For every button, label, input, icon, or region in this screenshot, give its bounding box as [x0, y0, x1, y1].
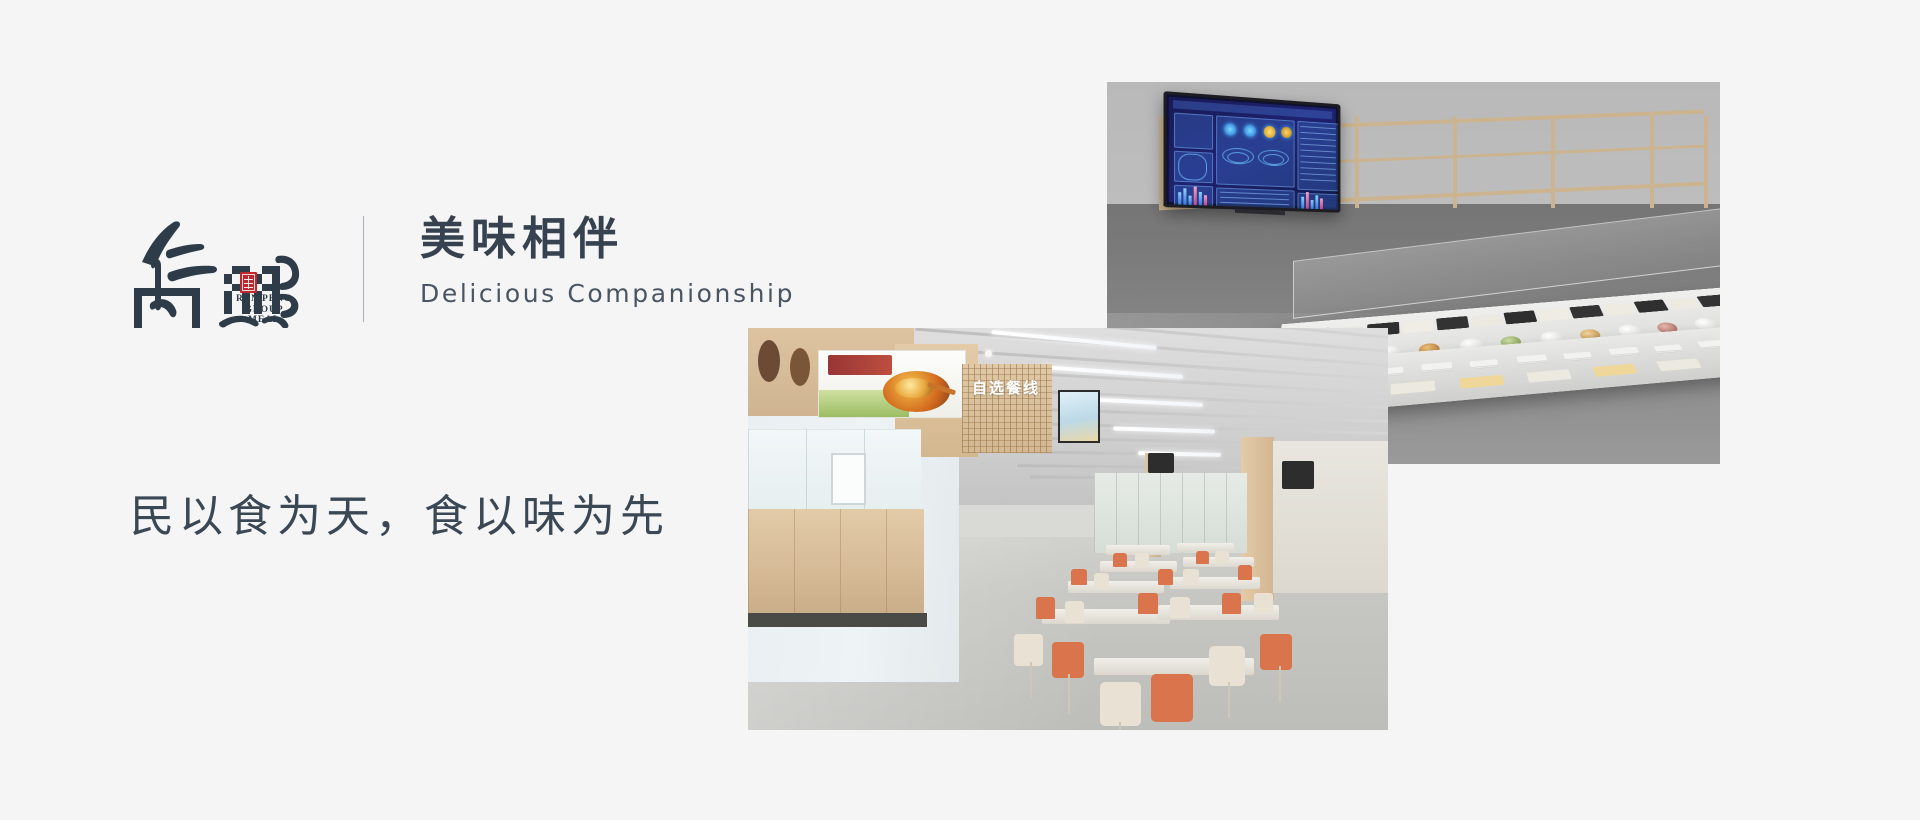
- chair: [1254, 593, 1273, 614]
- chair: [1094, 573, 1109, 589]
- chair: [1196, 551, 1209, 564]
- framed-notice: [831, 453, 866, 505]
- logo-en-line-3: MEAL: [236, 315, 292, 326]
- red-seal-icon: [240, 272, 257, 293]
- chair: [1151, 674, 1193, 722]
- chair: [1183, 569, 1198, 585]
- wall-screen: [1148, 453, 1174, 473]
- chair: [1100, 682, 1141, 726]
- cafeteria-interior-image: 自选餐线: [748, 328, 1388, 730]
- chair: [1222, 593, 1241, 614]
- logo-en-line-2: GROUP: [236, 305, 292, 316]
- chair: [1238, 565, 1253, 580]
- logo-calligraphy-icon: REN PENG GROUP MEAL: [128, 210, 303, 328]
- digital-menu-screen: [1058, 390, 1100, 442]
- logo-english-text: REN PENG GROUP MEAL: [236, 294, 292, 326]
- company-logo: REN PENG GROUP MEAL: [128, 210, 303, 350]
- page-title: 美味相伴: [420, 212, 795, 265]
- chair: [1158, 569, 1173, 585]
- ceiling-light: [991, 330, 1157, 350]
- brand-titles: 美味相伴 Delicious Companionship: [420, 210, 795, 308]
- menu-sign-board: [818, 350, 965, 418]
- chair: [1052, 642, 1084, 678]
- chair: [1071, 569, 1086, 585]
- chair: [1215, 551, 1228, 564]
- chair: [1135, 553, 1149, 567]
- chair: [1014, 634, 1043, 666]
- hero-banner: REN PENG GROUP MEAL 美味相伴 Delicious Compa…: [0, 0, 1920, 820]
- brand-divider: [363, 216, 364, 322]
- chair: [1036, 597, 1055, 619]
- brand-lockup: REN PENG GROUP MEAL 美味相伴 Delicious Compa…: [128, 210, 795, 350]
- signage-text-self-service: 自选餐线: [972, 380, 1040, 397]
- chair: [1065, 601, 1084, 623]
- dashboard-screen: [1164, 91, 1341, 213]
- chair: [1170, 597, 1189, 618]
- wall-decor-icon: [790, 348, 810, 386]
- lattice-panel: [962, 364, 1052, 452]
- chair: [1209, 646, 1245, 686]
- logo-en-line-1: REN PENG: [236, 294, 292, 305]
- chair: [1260, 634, 1292, 670]
- wall-screen: [1282, 461, 1314, 489]
- counter-base: [748, 613, 927, 627]
- wall-decor-icon: [758, 340, 780, 382]
- page-subtitle: Delicious Companionship: [420, 279, 795, 308]
- chair: [1113, 553, 1127, 567]
- slogan-text: 民以食为天，食以味为先: [130, 480, 669, 544]
- chair: [1138, 593, 1157, 614]
